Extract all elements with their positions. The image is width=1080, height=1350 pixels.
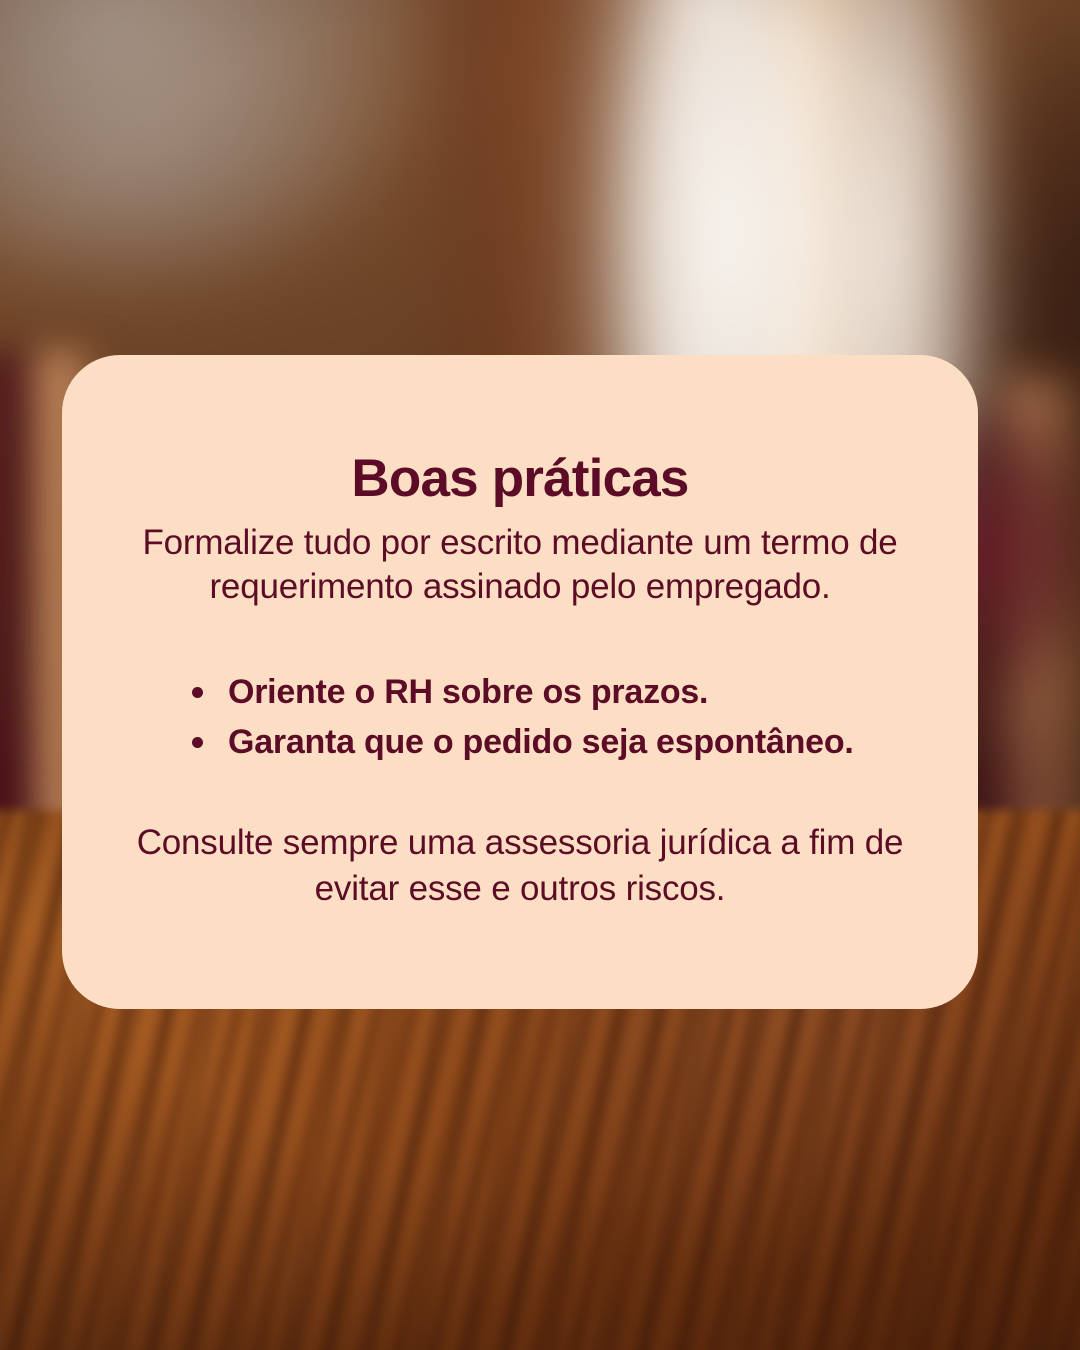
list-item: Oriente o RH sobre os prazos. <box>192 668 916 716</box>
bullet-dot-icon <box>192 737 203 748</box>
best-practices-list: Oriente o RH sobre os prazos. Garanta qu… <box>124 610 916 769</box>
card-intro-paragraph: Formalize tudo por escrito mediante um t… <box>124 507 916 610</box>
card-title: Boas práticas <box>124 355 916 507</box>
content-card: Boas práticas Formalize tudo por escrito… <box>62 355 978 1009</box>
card-outro-paragraph: Consulte sempre uma assessoria jurídica … <box>124 768 916 911</box>
list-item-label: Garanta que o pedido seja espontâneo. <box>228 723 854 761</box>
list-item: Garanta que o pedido seja espontâneo. <box>192 718 916 766</box>
bullet-dot-icon <box>192 687 203 698</box>
list-item-label: Oriente o RH sobre os prazos. <box>228 673 708 711</box>
social-post-canvas: Boas práticas Formalize tudo por escrito… <box>0 0 1080 1350</box>
